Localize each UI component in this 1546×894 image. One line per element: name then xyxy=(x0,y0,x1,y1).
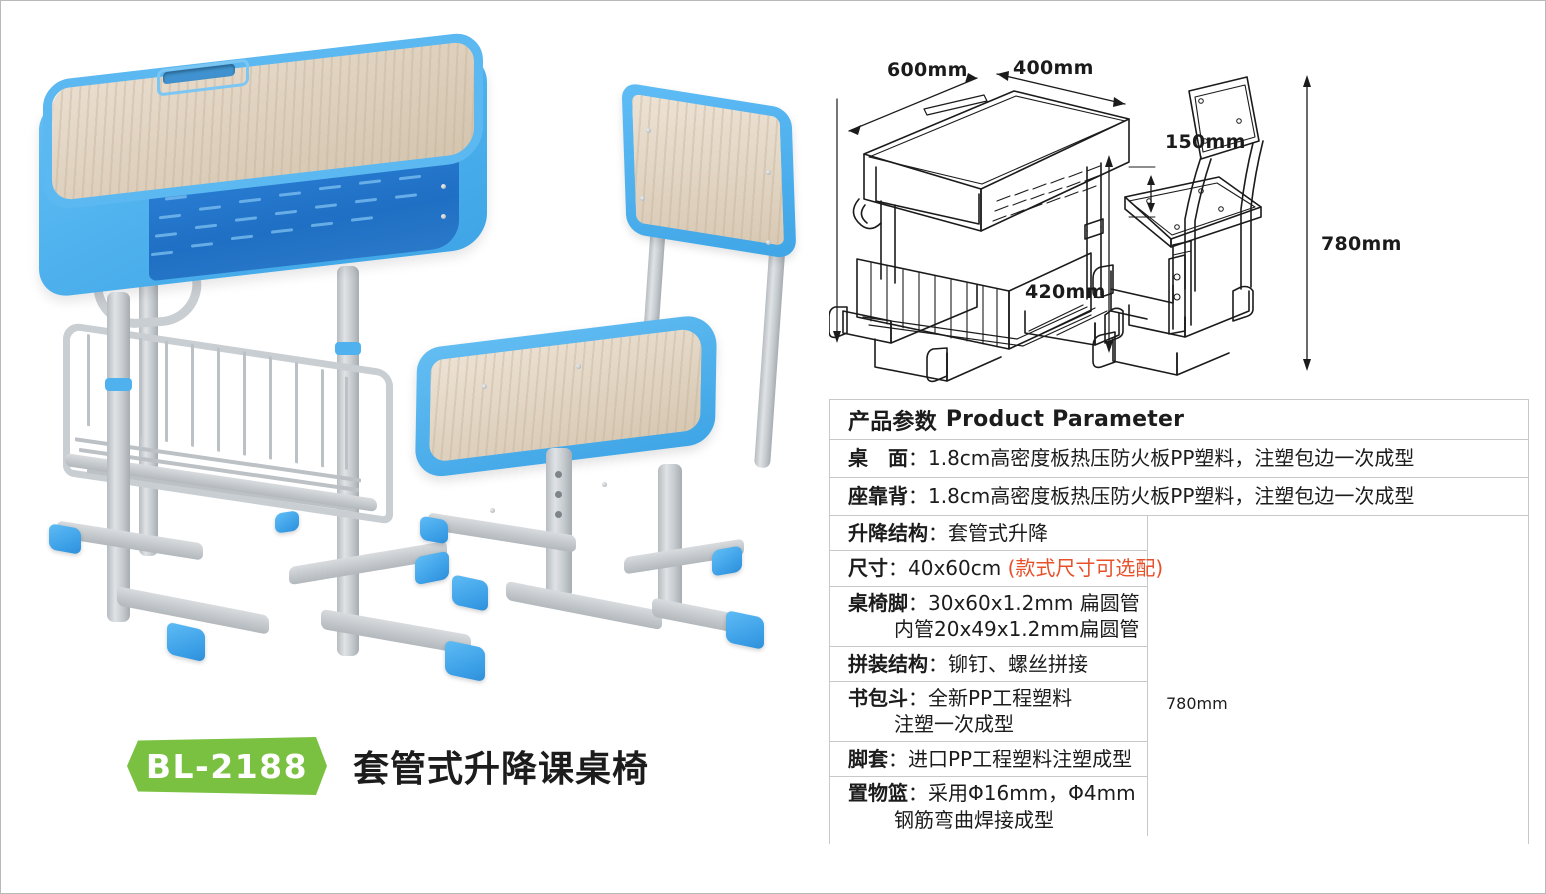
table-row: 桌椅脚：30x60x1.2mm 扁圆管 内管20x49x1.2mm扁圆管 xyxy=(830,587,1147,647)
chair-seat-screw xyxy=(482,384,487,389)
param-value: 采用Φ16mm，Φ4mm xyxy=(928,781,1136,805)
chair-foot-cap xyxy=(726,610,764,650)
technical-drawing-svg xyxy=(829,49,1529,394)
parameter-table-left-column: 升降结构：套管式升降 尺寸：40x60cm (款式尺寸可选配) 桌椅脚：30x6… xyxy=(830,516,1148,836)
param-key: 座靠背 xyxy=(848,484,908,508)
parameter-table-header: 产品参数 Product Parameter xyxy=(830,400,1528,440)
desk-right-adjust-ring xyxy=(335,342,361,355)
desk-left-adjust-ring xyxy=(105,378,132,391)
param-sep: ： xyxy=(928,652,948,676)
chair-seat-screw xyxy=(490,508,495,513)
desk-foot-cap xyxy=(275,510,299,533)
chair-base-front xyxy=(506,581,662,630)
product-photo xyxy=(1,1,821,721)
parameter-table-body: 升降结构：套管式升降 尺寸：40x60cm (款式尺寸可选配) 桌椅脚：30x6… xyxy=(830,516,1528,836)
chair-back-screw xyxy=(640,196,645,201)
product-code-label: BL-2188 xyxy=(146,747,308,786)
product-code-badge: BL-2188 xyxy=(127,737,327,795)
chair-adjust-hole xyxy=(555,491,562,498)
param-value: 全新PP工程塑料 xyxy=(928,686,1072,710)
chair-adjust-hole xyxy=(555,471,562,478)
table-row: 桌 面：1.8cm高密度板热压防火板PP塑料，注塑包边一次成型 xyxy=(830,440,1528,478)
param-value: 进口PP工程塑料注塑成型 xyxy=(908,747,1132,771)
dimension-label-book-box-height: 150mm xyxy=(1165,131,1246,153)
product-parameter-table: 产品参数 Product Parameter 桌 面：1.8cm高密度板热压防火… xyxy=(829,399,1529,844)
table-row: 拼装结构：铆钉、螺丝拼接 xyxy=(830,647,1147,682)
product-spec-page: 600mm 400mm 150mm 420mm 780mm 产品参数 Produ… xyxy=(0,0,1546,894)
chair-rear-column xyxy=(658,464,682,610)
param-key: 尺寸 xyxy=(848,556,888,580)
dimension-label-desk-depth: 400mm xyxy=(1013,57,1094,79)
param-key: 脚套 xyxy=(848,747,888,771)
param-sep: ： xyxy=(888,556,908,580)
param-value: 套管式升降 xyxy=(948,521,1048,545)
table-row: 升降结构：套管式升降 xyxy=(830,516,1147,551)
table-row: 尺寸：40x60cm (款式尺寸可选配) xyxy=(830,551,1147,586)
parameter-table-right-column: 780mm xyxy=(1148,516,1528,836)
chair-backrest-panel xyxy=(632,94,784,246)
table-row: 座靠背：1.8cm高密度板热压防火板PP塑料，注塑包边一次成型 xyxy=(830,478,1528,516)
chair-back-screw xyxy=(646,128,651,133)
product-identity-row: BL-2188 套管式升降课桌椅 xyxy=(127,736,649,796)
param-sep: ： xyxy=(908,484,928,508)
param-value-extra: 钢筋弯曲焊接成型 xyxy=(848,807,1147,833)
technical-drawing: 600mm 400mm 150mm 420mm 780mm xyxy=(829,49,1529,394)
table-row: 书包斗：全新PP工程塑料 注塑一次成型 xyxy=(830,682,1147,742)
param-key: 桌 面 xyxy=(848,446,908,470)
param-sep: ： xyxy=(908,446,928,470)
chair-back-screw xyxy=(766,170,771,175)
chair-back-post-right xyxy=(754,238,786,469)
param-value: 30x60x1.2mm 扁圆管 xyxy=(928,591,1140,615)
chair-seat-screw xyxy=(602,482,607,487)
param-sep: ： xyxy=(908,591,928,615)
desk-front-left-leg xyxy=(107,292,130,622)
param-sep: ： xyxy=(888,747,908,771)
param-value: 铆钉、螺丝拼接 xyxy=(948,652,1088,676)
chair-back-screw xyxy=(766,240,771,245)
param-key: 书包斗 xyxy=(848,686,908,710)
chair-foot-cap xyxy=(712,545,742,576)
chair-seat-panel xyxy=(429,327,702,463)
param-sep: ： xyxy=(908,686,928,710)
table-row: 脚套：进口PP工程塑料注塑成型 xyxy=(830,742,1147,777)
param-value-extra: 内管20x49x1.2mm扁圆管 xyxy=(848,616,1147,642)
param-key: 升降结构 xyxy=(848,521,928,545)
chair-seat-screw xyxy=(576,364,581,369)
side-dimension-note: 780mm xyxy=(1166,694,1228,713)
param-sep: ： xyxy=(908,781,928,805)
chair-foot-cap xyxy=(420,516,448,545)
dimension-label-chair-height: 780mm xyxy=(1321,233,1402,255)
product-name-label: 套管式升降课桌椅 xyxy=(353,740,649,792)
desk-foot-cap xyxy=(49,523,81,555)
param-sep: ： xyxy=(928,521,948,545)
dimension-label-desk-width: 600mm xyxy=(887,59,968,81)
chair-illustration xyxy=(406,96,806,676)
param-key: 桌椅脚 xyxy=(848,591,908,615)
parameter-table-header-cn: 产品参数 xyxy=(848,404,937,436)
desk-foot-cap xyxy=(167,622,205,663)
chair-foot-cap xyxy=(452,574,488,612)
dimension-label-desk-height: 420mm xyxy=(1025,281,1106,303)
param-option-note: (款式尺寸可选配) xyxy=(1008,556,1164,580)
param-value-extra: 注塑一次成型 xyxy=(848,711,1147,737)
param-value: 40x60cm xyxy=(908,556,1008,580)
chair-adjust-hole xyxy=(555,511,562,518)
param-key: 拼装结构 xyxy=(848,652,928,676)
table-row: 置物篮：采用Φ16mm，Φ4mm 钢筋弯曲焊接成型 xyxy=(830,777,1147,836)
param-value: 1.8cm高密度板热压防火板PP塑料，注塑包边一次成型 xyxy=(928,484,1414,508)
param-value: 1.8cm高密度板热压防火板PP塑料，注塑包边一次成型 xyxy=(928,446,1414,470)
param-key: 置物篮 xyxy=(848,781,908,805)
parameter-table-header-en: Product Parameter xyxy=(946,407,1184,432)
